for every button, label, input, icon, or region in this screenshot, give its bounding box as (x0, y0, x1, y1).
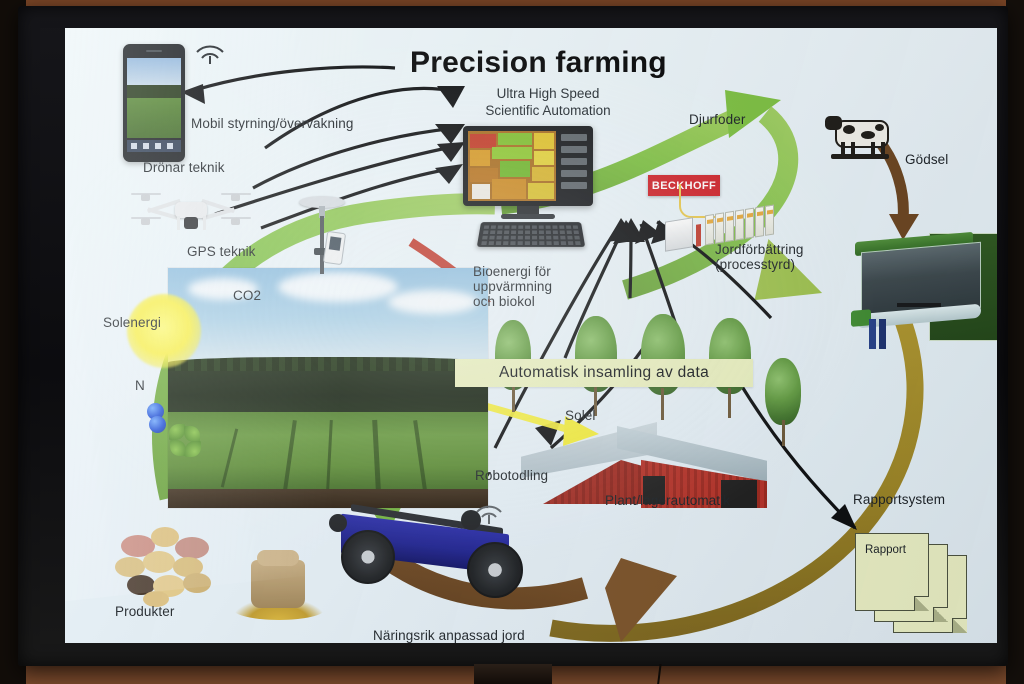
gps-mast-icon (293, 196, 353, 274)
arrow-to-phone (195, 67, 395, 90)
label-mobile-control: Mobil styrning/övervakning (191, 116, 353, 131)
tv-stand (474, 664, 552, 684)
field-map-screen (468, 131, 556, 201)
label-solar-energy: Solenergi (103, 315, 161, 330)
label-solar-electricity: Solel (565, 408, 596, 423)
drone-icon (137, 188, 245, 240)
label-manure: Gödsel (905, 152, 948, 167)
label-robot-farming: Robotodling (475, 468, 548, 483)
smartphone-icon (123, 44, 185, 162)
field-photo (168, 268, 488, 508)
wall-right-shadow (1006, 0, 1024, 684)
label-nutrient-soil: Näringsrik anpassad jord (373, 628, 525, 643)
label-co2: CO2 (233, 288, 261, 303)
sun-icon (127, 294, 201, 368)
monitor-foot (501, 214, 555, 219)
label-gps-technology: GPS teknik (187, 244, 256, 259)
subtitle-line-2: Scientific Automation (438, 103, 658, 119)
potatoes-icon (113, 523, 235, 611)
keyboard-icon (477, 222, 585, 247)
label-products: Produkter (115, 604, 174, 619)
label-drone-technology: Drönar teknik (143, 160, 225, 175)
subtitle-line-1: Ultra High Speed (448, 86, 648, 102)
clover-icon (169, 424, 205, 460)
data-collection-banner: Automatisk insamling av data (455, 359, 753, 387)
label-bioenergy: Bioenergi för uppvärmning och biokol (473, 264, 552, 309)
grain-sack-icon (233, 548, 325, 620)
report-page-label: Rapport (865, 544, 906, 556)
presentation-slide: BECKHOFF (65, 28, 997, 643)
label-report-system: Rapportsystem (853, 492, 945, 507)
label-nitrogen: N (135, 378, 145, 393)
label-animal-feed: Djurfoder (689, 112, 745, 127)
label-plant-storage: Plant/lagerautomatik (605, 493, 730, 508)
wifi-icon-phone (191, 38, 229, 68)
screenshot-root: BECKHOFF (0, 0, 1024, 684)
cow-icon (825, 110, 897, 164)
page-title: Precision farming (410, 46, 667, 80)
composting-machine-icon (855, 223, 997, 343)
wifi-icon-robot (471, 498, 507, 528)
tv-display: BECKHOFF (18, 6, 1008, 666)
label-soil-improvement: Jordförbättring (processtyrd) (715, 242, 804, 272)
monitor-icon (463, 126, 593, 206)
